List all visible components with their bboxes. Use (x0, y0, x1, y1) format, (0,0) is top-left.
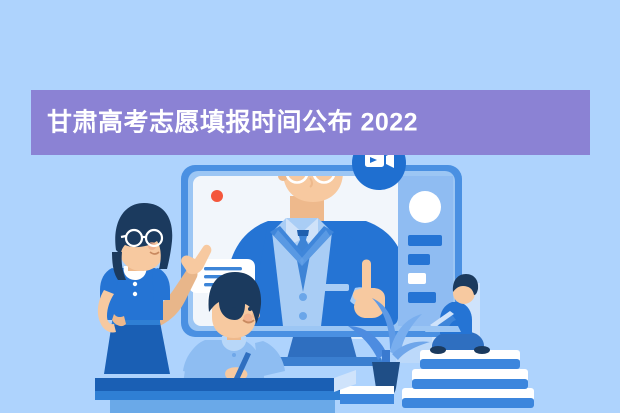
recording-dot (211, 190, 223, 202)
online-education-illustration (0, 0, 620, 413)
sidebar-panel (398, 176, 453, 326)
title-banner: 甘肃高考志愿填报时间公布 2022 (31, 90, 590, 155)
desk-top (95, 378, 348, 391)
monitor-neck (287, 337, 357, 359)
desk (95, 378, 348, 413)
page-title: 甘肃高考志愿填报时间公布 2022 (47, 110, 418, 135)
avatar-circle (409, 191, 441, 223)
screenshot-canvas: 甘肃高考志愿填报时间公布 2022 (0, 0, 620, 413)
desk-front (110, 400, 335, 413)
laptop-base (425, 326, 461, 332)
